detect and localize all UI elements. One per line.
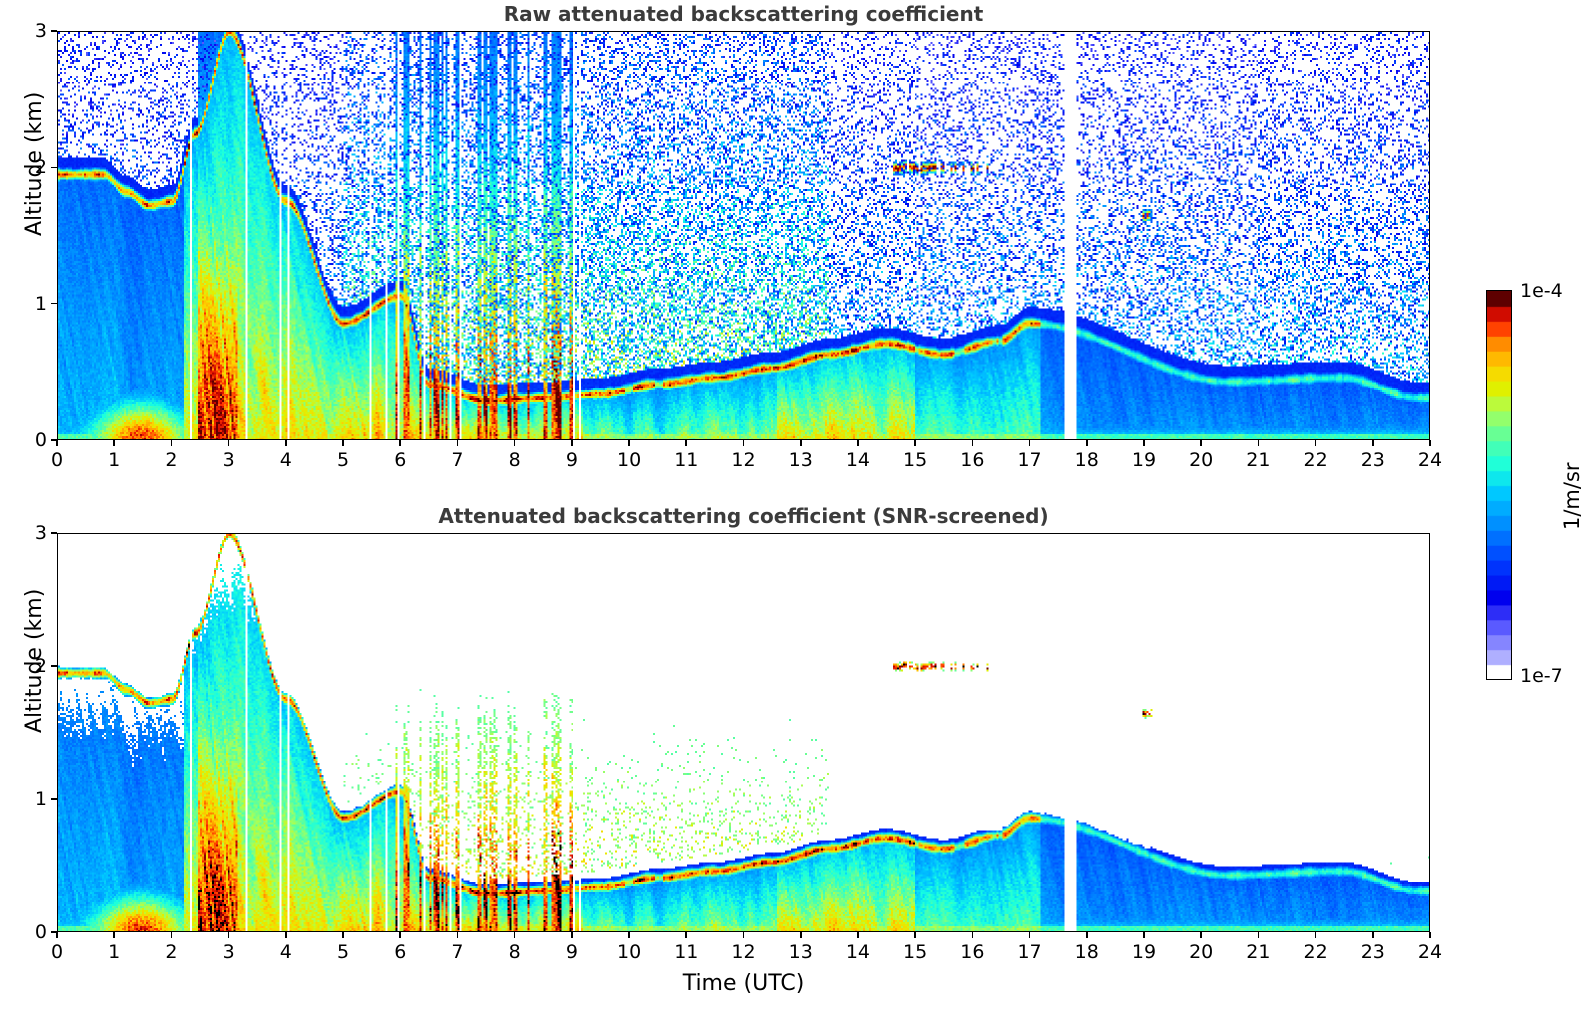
x-tick-label: 0 <box>51 941 63 963</box>
top-panel-title: Raw attenuated backscattering coefficien… <box>57 2 1430 26</box>
x-tickmark <box>914 932 916 938</box>
x-tick-label: 24 <box>1418 941 1442 963</box>
colorbar-unit-wrap: 1/m/sr <box>1560 462 1584 530</box>
y-tickmark <box>51 798 57 800</box>
x-tick-label: 23 <box>1361 449 1385 471</box>
x-tick-label: 7 <box>451 941 463 963</box>
y-tick-label: 1 <box>23 293 47 315</box>
x-tick-label: 6 <box>394 941 406 963</box>
x-tickmark <box>914 440 916 446</box>
colorbar <box>1486 290 1512 680</box>
x-tick-label: 6 <box>394 449 406 471</box>
x-tickmark <box>1372 440 1374 446</box>
x-tickmark <box>743 440 745 446</box>
colorbar-max-label: 1e-4 <box>1520 280 1563 302</box>
y-tickmark <box>51 167 57 169</box>
snr-screened-backscatter-heatmap <box>58 534 1429 931</box>
x-tick-label: 12 <box>731 449 755 471</box>
x-tick-label: 23 <box>1361 941 1385 963</box>
x-tick-label: 20 <box>1189 449 1213 471</box>
x-tickmark <box>399 932 401 938</box>
x-tickmark <box>228 932 230 938</box>
colorbar-min-label: 1e-7 <box>1520 665 1563 687</box>
y-tick-label: 3 <box>23 522 47 544</box>
x-tick-label: 21 <box>1246 449 1270 471</box>
x-tick-label: 9 <box>566 449 578 471</box>
x-tickmark <box>171 440 173 446</box>
y-tickmark <box>51 665 57 667</box>
x-tickmark <box>743 932 745 938</box>
lidar-backscatter-figure: Raw attenuated backscattering coefficien… <box>0 0 1595 1020</box>
x-tickmark <box>1029 440 1031 446</box>
x-tickmark <box>228 440 230 446</box>
x-tickmark <box>113 932 115 938</box>
x-tickmark <box>857 440 859 446</box>
x-tick-label: 11 <box>674 449 698 471</box>
x-tick-label: 10 <box>617 941 641 963</box>
x-tick-label: 4 <box>280 449 292 471</box>
bottom-panel-title: Attenuated backscattering coefficient (S… <box>57 504 1430 528</box>
x-tickmark <box>1143 932 1145 938</box>
x-tick-label: 15 <box>903 941 927 963</box>
x-tickmark <box>1029 932 1031 938</box>
x-tickmark <box>457 440 459 446</box>
x-tick-label: 16 <box>960 941 984 963</box>
y-tickmark <box>51 303 57 305</box>
x-tick-label: 5 <box>337 449 349 471</box>
x-tickmark <box>56 440 58 446</box>
y-tick-label: 1 <box>23 788 47 810</box>
x-tickmark <box>342 932 344 938</box>
x-tickmark <box>628 440 630 446</box>
x-tick-label: 21 <box>1246 941 1270 963</box>
x-tick-label: 13 <box>789 941 813 963</box>
x-tickmark <box>285 440 287 446</box>
x-tickmark <box>571 440 573 446</box>
x-tickmark <box>285 932 287 938</box>
raw-backscatter-heatmap <box>58 32 1429 439</box>
x-tick-label: 3 <box>223 941 235 963</box>
y-axis-label-top-wrap: Altitude (km) <box>22 92 47 236</box>
x-tick-label: 19 <box>1132 449 1156 471</box>
x-tickmark <box>1258 932 1260 938</box>
x-tick-label: 22 <box>1303 449 1327 471</box>
x-tickmark <box>857 932 859 938</box>
x-tickmark <box>1315 932 1317 938</box>
x-tick-label: 16 <box>960 449 984 471</box>
x-tick-label: 12 <box>731 941 755 963</box>
y-tick-label: 3 <box>23 20 47 42</box>
y-tick-label: 0 <box>23 429 47 451</box>
y-tickmark <box>51 532 57 534</box>
x-tick-label: 2 <box>165 941 177 963</box>
x-tickmark <box>113 440 115 446</box>
x-tick-label: 15 <box>903 449 927 471</box>
y-tickmark <box>51 439 57 441</box>
x-tick-label: 24 <box>1418 449 1442 471</box>
x-tick-label: 17 <box>1017 941 1041 963</box>
x-tickmark <box>685 932 687 938</box>
x-tick-label: 22 <box>1303 941 1327 963</box>
y-axis-label-top: Altitude (km) <box>22 92 47 236</box>
snr-screened-plot-area <box>57 533 1430 932</box>
x-tickmark <box>514 440 516 446</box>
y-tickmark <box>51 931 57 933</box>
x-tickmark <box>1200 932 1202 938</box>
x-tickmark <box>514 932 516 938</box>
x-tick-label: 9 <box>566 941 578 963</box>
x-tickmark <box>800 440 802 446</box>
x-tickmark <box>972 932 974 938</box>
x-tickmark <box>1143 440 1145 446</box>
x-tick-label: 17 <box>1017 449 1041 471</box>
y-axis-label-bottom: Altitude (km) <box>22 589 47 733</box>
x-tick-label: 5 <box>337 941 349 963</box>
colorbar-unit-label: 1/m/sr <box>1560 462 1584 530</box>
x-tickmark <box>685 440 687 446</box>
x-tick-label: 1 <box>108 941 120 963</box>
x-tickmark <box>1429 932 1431 938</box>
x-axis-label: Time (UTC) <box>57 971 1430 996</box>
raw-backscatter-plot-area <box>57 31 1430 440</box>
y-axis-label-bottom-wrap: Altitude (km) <box>22 589 47 733</box>
x-tick-label: 2 <box>165 449 177 471</box>
x-tick-label: 4 <box>280 941 292 963</box>
x-tickmark <box>457 932 459 938</box>
x-tickmark <box>171 932 173 938</box>
x-tick-label: 10 <box>617 449 641 471</box>
x-tickmark <box>1200 440 1202 446</box>
x-tickmark <box>1086 440 1088 446</box>
x-tickmark <box>628 932 630 938</box>
x-tick-label: 18 <box>1075 449 1099 471</box>
x-tick-label: 11 <box>674 941 698 963</box>
x-tickmark <box>1429 440 1431 446</box>
y-tickmark <box>51 30 57 32</box>
x-tickmark <box>56 932 58 938</box>
x-tick-label: 18 <box>1075 941 1099 963</box>
x-tick-label: 8 <box>509 449 521 471</box>
x-tickmark <box>1086 932 1088 938</box>
x-tick-label: 13 <box>789 449 813 471</box>
x-tickmark <box>342 440 344 446</box>
x-tick-label: 19 <box>1132 941 1156 963</box>
x-tickmark <box>800 932 802 938</box>
x-tickmark <box>1258 440 1260 446</box>
y-tick-label: 0 <box>23 921 47 943</box>
x-tick-label: 14 <box>846 449 870 471</box>
x-tick-label: 0 <box>51 449 63 471</box>
x-tick-label: 1 <box>108 449 120 471</box>
x-tick-label: 8 <box>509 941 521 963</box>
x-tick-label: 20 <box>1189 941 1213 963</box>
x-tickmark <box>1372 932 1374 938</box>
x-tick-label: 14 <box>846 941 870 963</box>
x-tickmark <box>571 932 573 938</box>
colorbar-gradient <box>1487 291 1511 679</box>
x-tick-label: 7 <box>451 449 463 471</box>
x-tick-label: 3 <box>223 449 235 471</box>
x-tickmark <box>399 440 401 446</box>
x-tickmark <box>1315 440 1317 446</box>
x-tickmark <box>972 440 974 446</box>
